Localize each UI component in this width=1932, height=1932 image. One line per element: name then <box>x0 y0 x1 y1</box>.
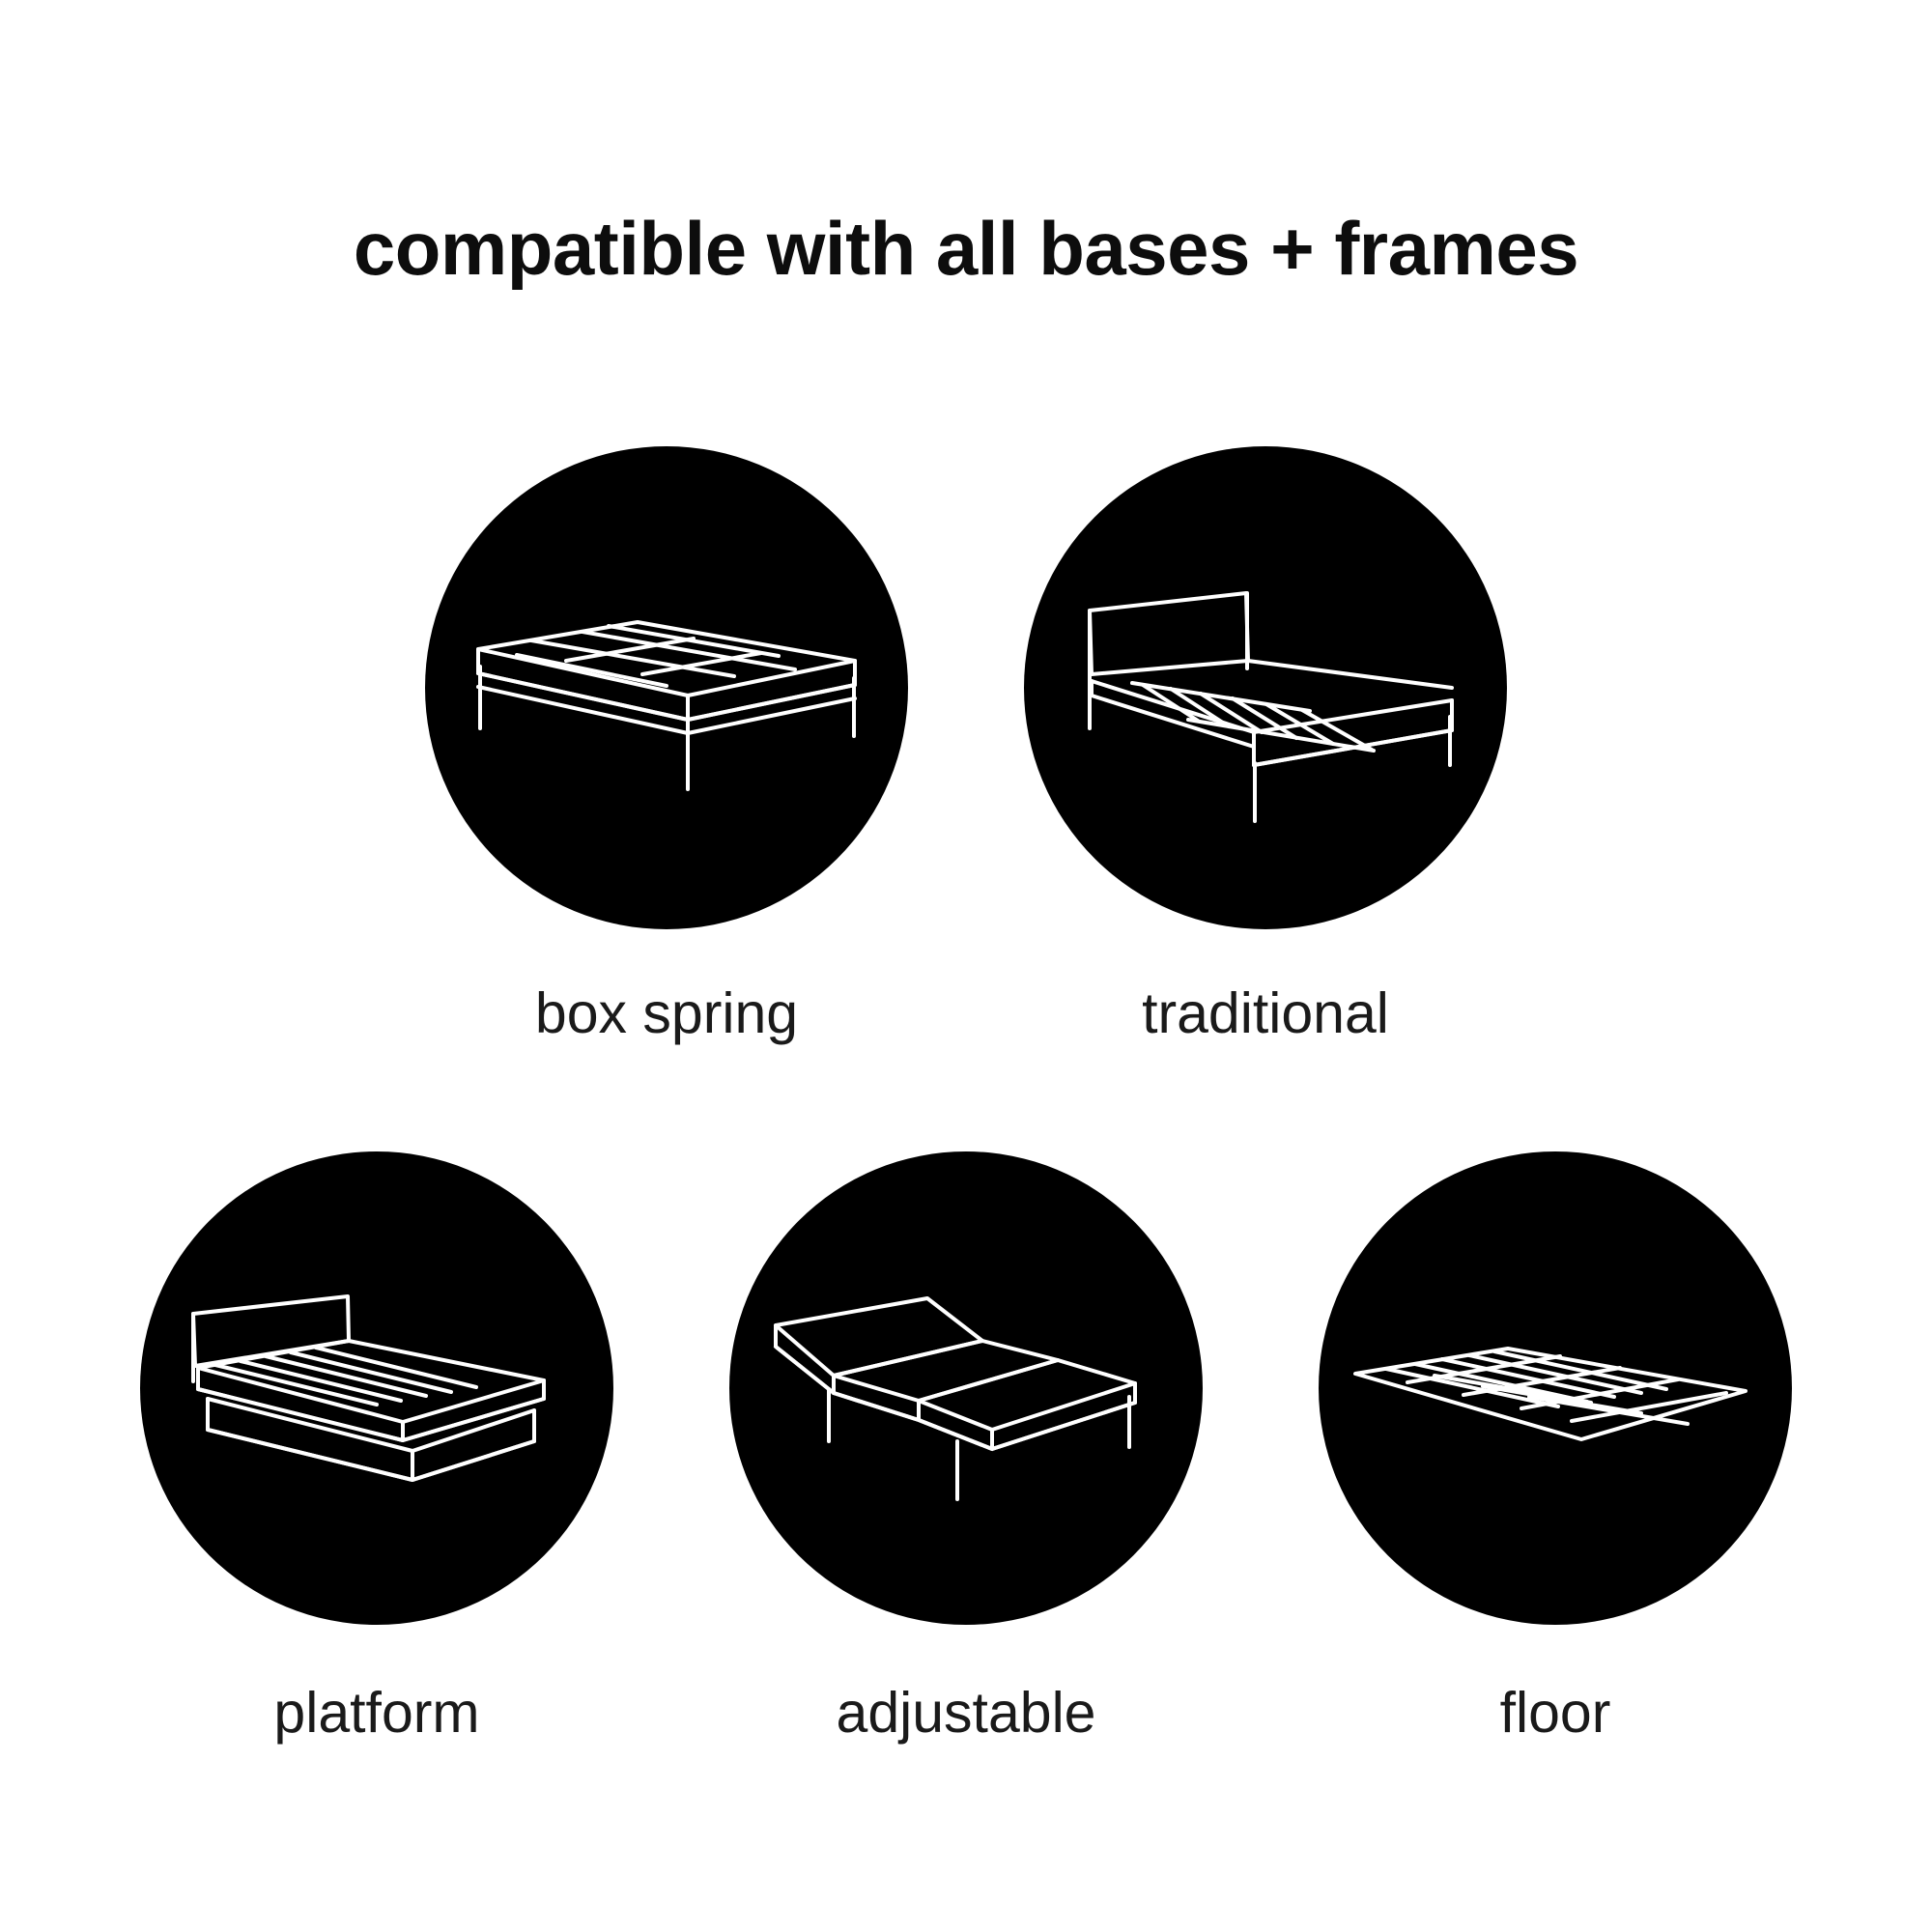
box-spring-disc <box>425 446 908 929</box>
base-option-label: traditional <box>1142 985 1389 1042</box>
platform-bed-icon <box>140 1151 613 1625</box>
bases-row-bottom: platform <box>0 1151 1932 1742</box>
floor-disc <box>1319 1151 1792 1625</box>
traditional-disc <box>1024 446 1507 929</box>
base-option-label: box spring <box>535 985 798 1042</box>
page-title: compatible with all bases + frames <box>0 211 1932 286</box>
base-option-traditional[interactable]: traditional <box>1024 446 1507 1042</box>
base-option-floor[interactable]: floor <box>1319 1151 1792 1742</box>
bases-row-top: box spring <box>0 446 1932 1042</box>
traditional-bed-frame-icon <box>1024 446 1507 929</box>
base-option-box-spring[interactable]: box spring <box>425 446 908 1042</box>
box-spring-bed-icon <box>425 446 908 929</box>
base-option-label: adjustable <box>837 1685 1096 1742</box>
adjustable-base-icon <box>729 1151 1203 1625</box>
platform-disc <box>140 1151 613 1625</box>
adjustable-disc <box>729 1151 1203 1625</box>
base-option-adjustable[interactable]: adjustable <box>729 1151 1203 1742</box>
base-option-label: floor <box>1500 1685 1611 1742</box>
base-option-platform[interactable]: platform <box>140 1151 613 1742</box>
base-option-label: platform <box>273 1685 479 1742</box>
compatibility-graphic: compatible with all bases + frames <box>0 0 1932 1932</box>
floor-slats-icon <box>1319 1151 1792 1625</box>
